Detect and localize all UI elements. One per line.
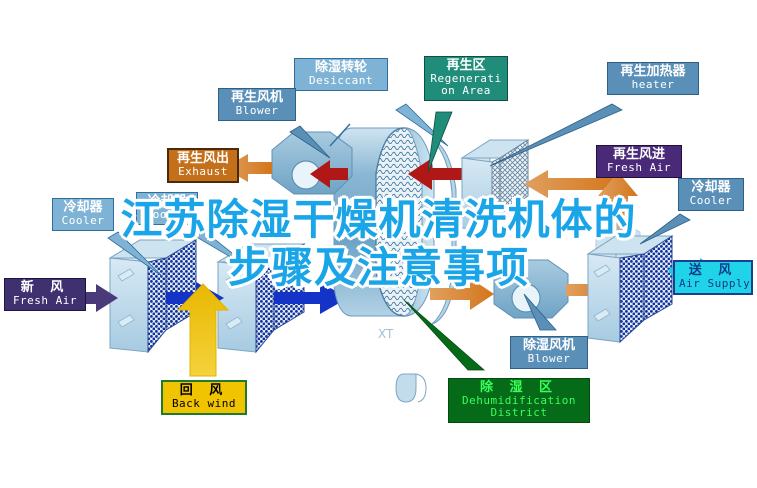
callout-regen-blower-en: Blower bbox=[223, 105, 291, 117]
callout-cooler-right[interactable]: 冷却器 Cooler bbox=[678, 178, 744, 211]
callout-cooler-right-en: Cooler bbox=[683, 195, 739, 207]
callout-regen-area-en2: on Area bbox=[429, 85, 503, 97]
callout-regen-heater-cn: 再生加热器 bbox=[612, 65, 694, 79]
callout-air-supply-en: Air Supply bbox=[679, 278, 747, 290]
callout-air-supply-cn: 送 风 bbox=[679, 264, 747, 278]
callout-regen-fresh-cn: 再生风进 bbox=[601, 148, 677, 162]
after-cooler-unit bbox=[588, 236, 672, 342]
callout-cooler-middle[interactable]: 冷却器 Cooler bbox=[136, 192, 198, 225]
callout-regen-heater[interactable]: 再生加热器 heater bbox=[607, 62, 699, 95]
callout-cooler-right-cn: 冷却器 bbox=[683, 181, 739, 195]
callout-desiccant-en: Desiccant bbox=[299, 75, 383, 87]
callout-exhaust[interactable]: 再生风出 Exhaust bbox=[167, 148, 239, 183]
callout-regen-blower-cn: 再生风机 bbox=[223, 91, 291, 105]
regeneration-blower-fan bbox=[272, 124, 352, 194]
svg-text:XT: XT bbox=[378, 327, 394, 341]
callout-regen-area-cn: 再生区 bbox=[429, 59, 503, 73]
callout-regen-blower[interactable]: 再生风机 Blower bbox=[218, 88, 296, 121]
callout-fresh-air-en: Fresh Air bbox=[9, 295, 81, 307]
callout-cooler-left-cn: 冷却器 bbox=[57, 201, 109, 215]
callout-dehum-blower-cn: 除湿风机 bbox=[515, 339, 583, 353]
callout-exhaust-en: Exhaust bbox=[173, 166, 233, 178]
diagram-canvas: XT bbox=[0, 0, 757, 488]
callout-fresh-air-cn: 新 风 bbox=[9, 281, 81, 295]
callout-air-supply[interactable]: 送 风 Air Supply bbox=[673, 260, 753, 295]
callout-dehumidify-blower[interactable]: 除湿风机 Blower bbox=[510, 336, 588, 369]
callout-regen-fresh-air[interactable]: 再生风进 Fresh Air bbox=[596, 145, 682, 178]
callout-cooler-mid-cn: 冷却器 bbox=[141, 195, 193, 209]
callout-exhaust-cn: 再生风出 bbox=[173, 152, 233, 166]
callout-dehum-blower-en: Blower bbox=[515, 353, 583, 365]
callout-regeneration-area[interactable]: 再生区 Regenerati on Area bbox=[424, 56, 508, 101]
callout-desiccant-cn: 除湿转轮 bbox=[299, 61, 383, 75]
callout-back-wind-en: Back wind bbox=[167, 398, 241, 410]
callout-cooler-mid-en: Cooler bbox=[141, 209, 193, 221]
arrow-regen-fresh-inlet bbox=[524, 170, 638, 230]
callout-cooler-left[interactable]: 冷却器 Cooler bbox=[52, 198, 114, 231]
callout-cooler-left-en: Cooler bbox=[57, 215, 109, 227]
arrow-dry-air-1 bbox=[430, 278, 494, 310]
callout-regen-fresh-en: Fresh Air bbox=[601, 162, 677, 174]
callout-dehumidification-district[interactable]: 除 湿 区 Dehumidification District bbox=[448, 378, 590, 423]
callout-dehum-area-cn: 除 湿 区 bbox=[453, 381, 585, 395]
callout-back-wind-cn: 回 风 bbox=[167, 384, 241, 398]
callout-regen-heater-en: heater bbox=[612, 79, 694, 91]
callout-back-wind[interactable]: 回 风 Back wind bbox=[161, 380, 247, 415]
callout-dehum-area-en2: District bbox=[453, 407, 585, 419]
callout-fresh-air[interactable]: 新 风 Fresh Air bbox=[4, 278, 86, 311]
callout-desiccant[interactable]: 除湿转轮 Desiccant bbox=[294, 58, 388, 91]
